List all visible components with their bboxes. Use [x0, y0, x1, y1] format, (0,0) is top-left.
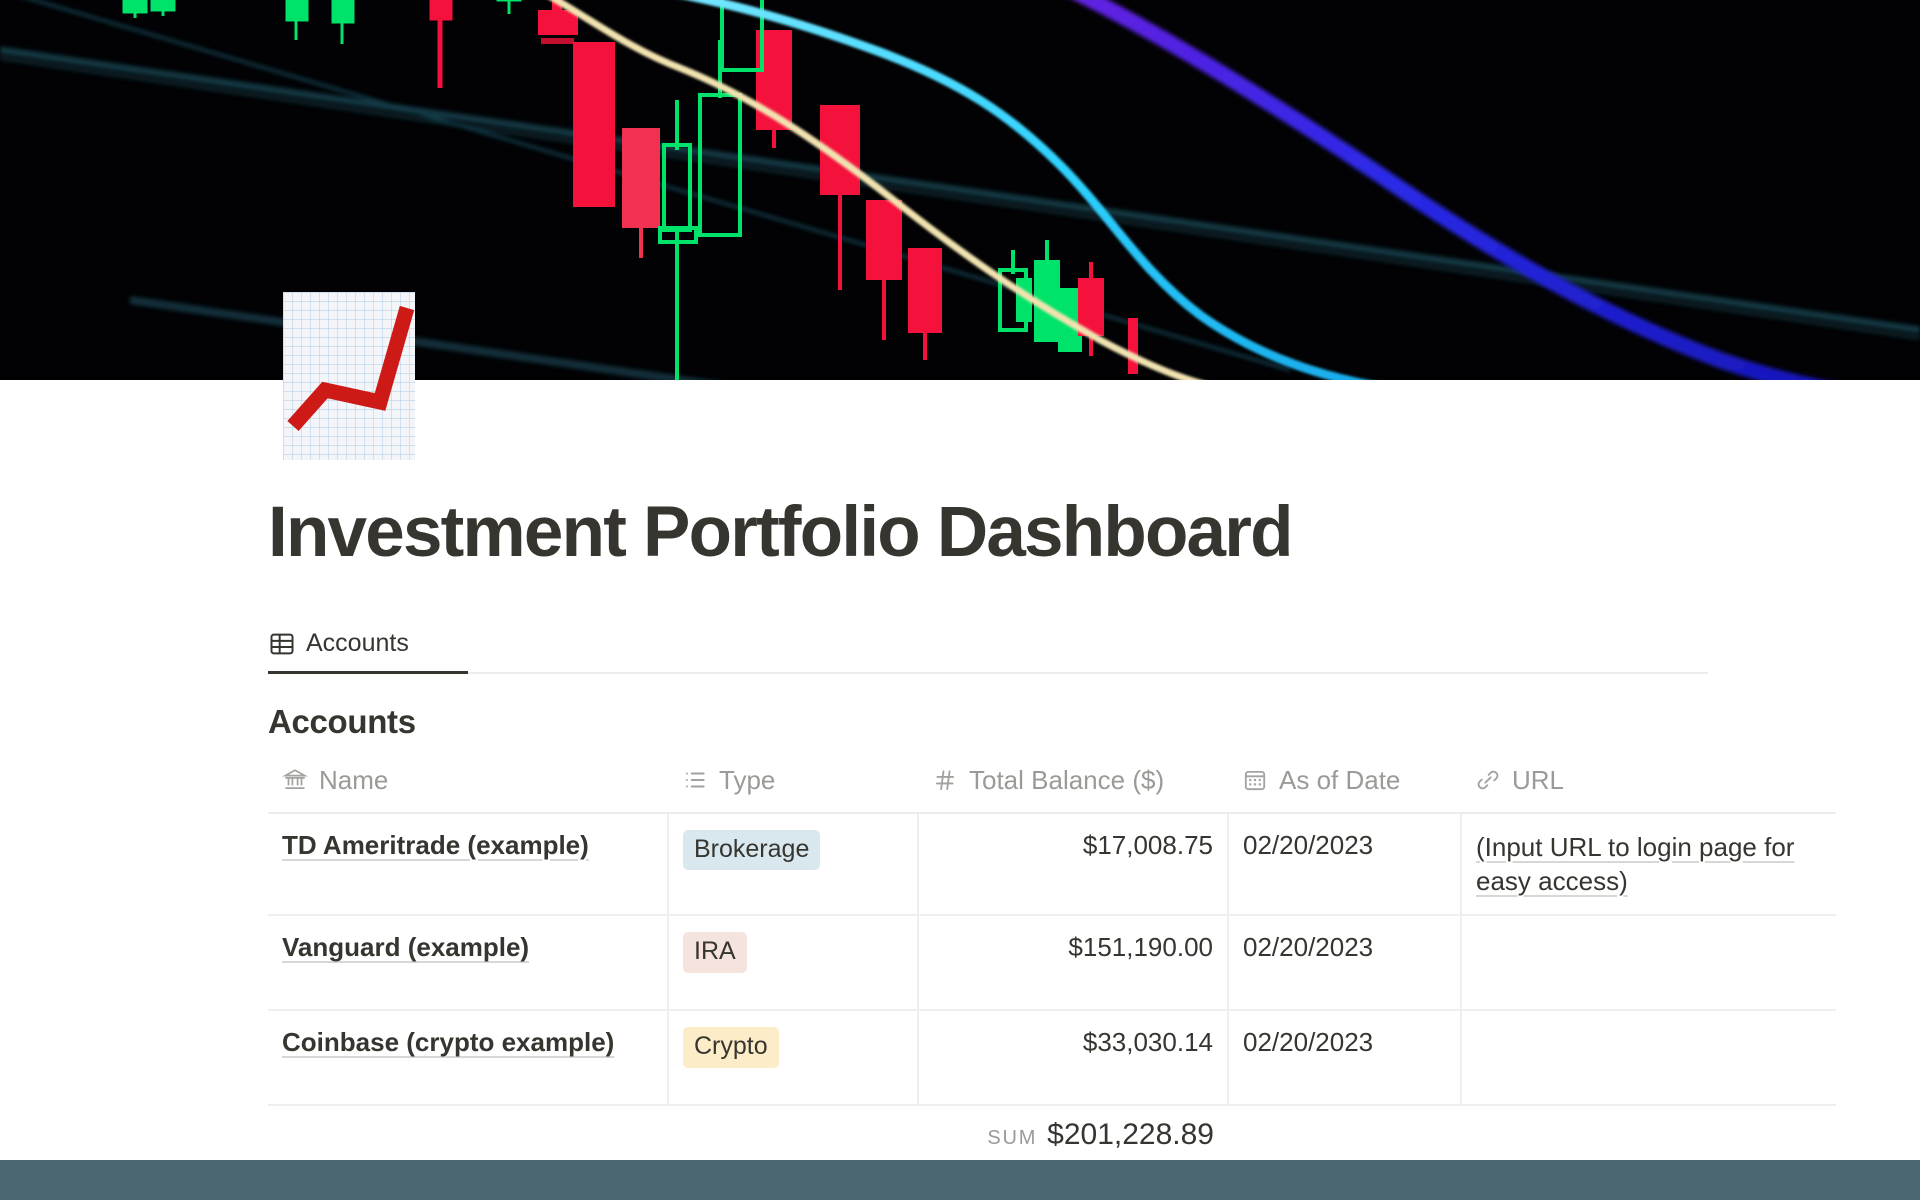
- tab-accounts[interactable]: Accounts: [252, 616, 425, 672]
- page-title: Investment Portfolio Dashboard: [268, 496, 1708, 571]
- cell-type[interactable]: Crypto: [668, 1010, 918, 1105]
- page-icon[interactable]: [283, 292, 415, 460]
- column-header-url[interactable]: URL: [1461, 759, 1836, 813]
- tab-label: Accounts: [306, 629, 409, 658]
- cell-balance[interactable]: $151,190.00: [918, 915, 1228, 1010]
- column-header-type[interactable]: Type: [668, 759, 918, 813]
- type-tag: Crypto: [683, 1027, 779, 1068]
- row-name-link[interactable]: TD Ameritrade (example): [282, 830, 589, 860]
- column-header-name[interactable]: Name: [268, 759, 668, 813]
- summary-balance[interactable]: SUM $201,228.89: [918, 1108, 1228, 1152]
- column-header-label: Type: [719, 765, 775, 796]
- summary-value: $201,228.89: [1047, 1118, 1214, 1152]
- column-header-total-balance[interactable]: Total Balance ($): [918, 759, 1228, 813]
- number-hash-icon: [932, 767, 958, 793]
- cell-url[interactable]: (Input URL to login page for easy access…: [1461, 813, 1836, 916]
- chart-increasing-emoji: [283, 292, 415, 460]
- row-name-link[interactable]: Coinbase (crypto example): [282, 1027, 614, 1057]
- row-name-link[interactable]: Vanguard (example): [282, 932, 529, 962]
- column-header-label: As of Date: [1279, 765, 1400, 796]
- database-title: Accounts: [268, 703, 1708, 741]
- cell-as-of-date[interactable]: 02/20/2023: [1228, 915, 1461, 1010]
- table-summary-row: SUM $201,228.89: [268, 1108, 1836, 1152]
- summary-label: SUM: [987, 1127, 1037, 1150]
- cell-as-of-date[interactable]: 02/20/2023: [1228, 813, 1461, 916]
- column-header-label: Total Balance ($): [969, 765, 1164, 796]
- page-body: Investment Portfolio Dashboard Accounts …: [0, 380, 1920, 1200]
- cell-url[interactable]: [1461, 915, 1836, 1010]
- cell-name[interactable]: Coinbase (crypto example): [268, 1010, 668, 1105]
- link-icon: [1475, 767, 1501, 793]
- cell-name[interactable]: Vanguard (example): [268, 915, 668, 1010]
- cell-type[interactable]: Brokerage: [668, 813, 918, 916]
- column-header-label: URL: [1512, 765, 1564, 796]
- cell-balance[interactable]: $17,008.75: [918, 813, 1228, 916]
- type-tag: Brokerage: [683, 830, 820, 871]
- bottom-status-bar: [0, 1160, 1920, 1200]
- table-row[interactable]: Coinbase (crypto example) Crypto $33,030…: [268, 1010, 1836, 1105]
- type-tag: IRA: [683, 932, 747, 973]
- cell-type[interactable]: IRA: [668, 915, 918, 1010]
- cell-name[interactable]: TD Ameritrade (example): [268, 813, 668, 916]
- tab-strip: Accounts: [268, 616, 1708, 674]
- accounts-table: Name: [268, 759, 1836, 1107]
- table-row[interactable]: TD Ameritrade (example) Brokerage $17,00…: [268, 813, 1836, 916]
- table-header-row: Name: [268, 759, 1836, 813]
- column-header-as-of-date[interactable]: As of Date: [1228, 759, 1461, 813]
- page-content: Investment Portfolio Dashboard Accounts …: [268, 380, 1708, 1152]
- column-header-label: Name: [319, 765, 388, 796]
- cell-balance[interactable]: $33,030.14: [918, 1010, 1228, 1105]
- bank-icon: [282, 767, 308, 793]
- cell-as-of-date[interactable]: 02/20/2023: [1228, 1010, 1461, 1105]
- table-row[interactable]: Vanguard (example) IRA $151,190.00 02/20…: [268, 915, 1836, 1010]
- calendar-icon: [1242, 767, 1268, 793]
- cell-url[interactable]: [1461, 1010, 1836, 1105]
- row-url-link[interactable]: (Input URL to login page for easy access…: [1476, 832, 1794, 896]
- select-list-icon: [682, 767, 708, 793]
- summary-spacer-type: [668, 1108, 918, 1152]
- summary-spacer-name: [268, 1108, 668, 1152]
- table-grid-icon: [268, 630, 296, 658]
- tab-active-indicator: [268, 671, 468, 674]
